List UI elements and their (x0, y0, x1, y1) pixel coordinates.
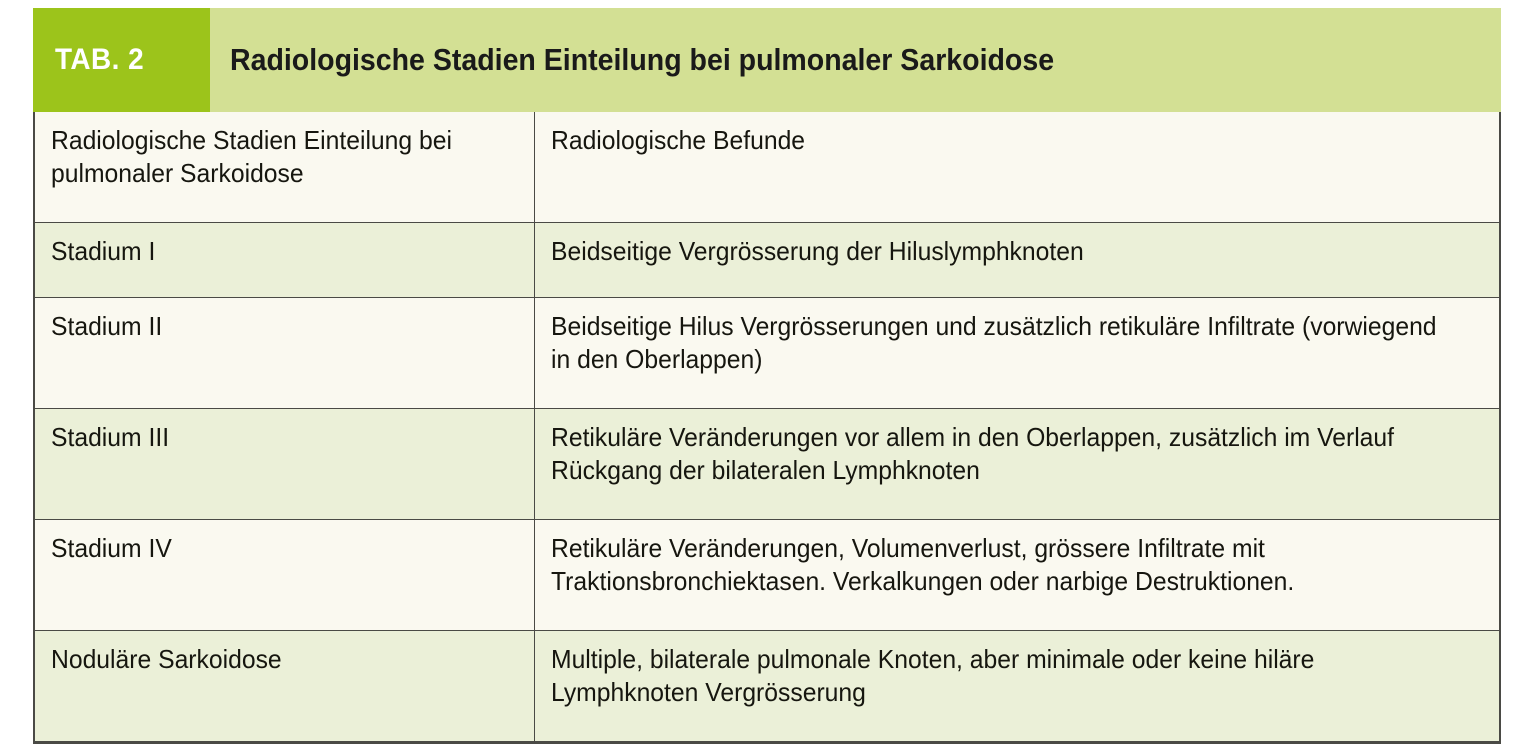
cell-findings-text: Beidseitige Hilus Vergrösserungen und zu… (551, 310, 1439, 377)
header-cell-findings-text: Radiologische Befunde (551, 124, 1439, 157)
cell-stage: Noduläre Sarkoidose (34, 631, 534, 743)
cell-stage-text: Noduläre Sarkoidose (51, 643, 496, 676)
cell-stage: Stadium IV (34, 520, 534, 631)
figure-title: Radiologische Stadien Einteilung bei pul… (230, 42, 1054, 78)
cell-findings: Retikuläre Veränderungen, Volumenverlust… (534, 520, 1500, 631)
table-number-badge: TAB. 2 (33, 8, 210, 112)
table-row: Stadium IV Retikuläre Veränderungen, Vol… (34, 520, 1500, 631)
cell-findings: Beidseitige Vergrösserung der Hiluslymph… (534, 223, 1500, 298)
cell-findings-text: Retikuläre Veränderungen vor allem in de… (551, 421, 1439, 488)
figure-title-container: Radiologische Stadien Einteilung bei pul… (210, 8, 1501, 112)
table-row: Stadium III Retikuläre Veränderungen vor… (34, 409, 1500, 520)
cell-findings-text: Retikuläre Veränderungen, Volumenverlust… (551, 532, 1439, 599)
table-figure: TAB. 2 Radiologische Stadien Einteilung … (33, 8, 1501, 744)
cell-findings: Multiple, bilaterale pulmonale Knoten, a… (534, 631, 1500, 743)
cell-stage-text: Stadium I (51, 235, 496, 268)
header-cell-stage: Radiologische Stadien Einteilung bei pul… (34, 112, 534, 223)
header-cell-findings: Radiologische Befunde (534, 112, 1500, 223)
cell-findings: Retikuläre Veränderungen vor allem in de… (534, 409, 1500, 520)
table-row: Stadium I Beidseitige Vergrösserung der … (34, 223, 1500, 298)
figure-header: TAB. 2 Radiologische Stadien Einteilung … (33, 8, 1501, 112)
header-cell-stage-text: Radiologische Stadien Einteilung bei pul… (51, 124, 496, 191)
radiologic-stages-table: Radiologische Stadien Einteilung bei pul… (33, 112, 1501, 744)
cell-stage: Stadium II (34, 298, 534, 409)
table-row: Stadium II Beidseitige Hilus Vergrösseru… (34, 298, 1500, 409)
cell-stage: Stadium III (34, 409, 534, 520)
cell-findings: Beidseitige Hilus Vergrösserungen und zu… (534, 298, 1500, 409)
table-header-row: Radiologische Stadien Einteilung bei pul… (34, 112, 1500, 223)
table-number-label: TAB. 2 (55, 43, 144, 77)
table-row: Noduläre Sarkoidose Multiple, bilaterale… (34, 631, 1500, 743)
cell-findings-text: Beidseitige Vergrösserung der Hiluslymph… (551, 235, 1439, 268)
cell-stage: Stadium I (34, 223, 534, 298)
cell-stage-text: Stadium III (51, 421, 496, 454)
cell-findings-text: Multiple, bilaterale pulmonale Knoten, a… (551, 643, 1439, 710)
cell-stage-text: Stadium IV (51, 532, 496, 565)
cell-stage-text: Stadium II (51, 310, 496, 343)
